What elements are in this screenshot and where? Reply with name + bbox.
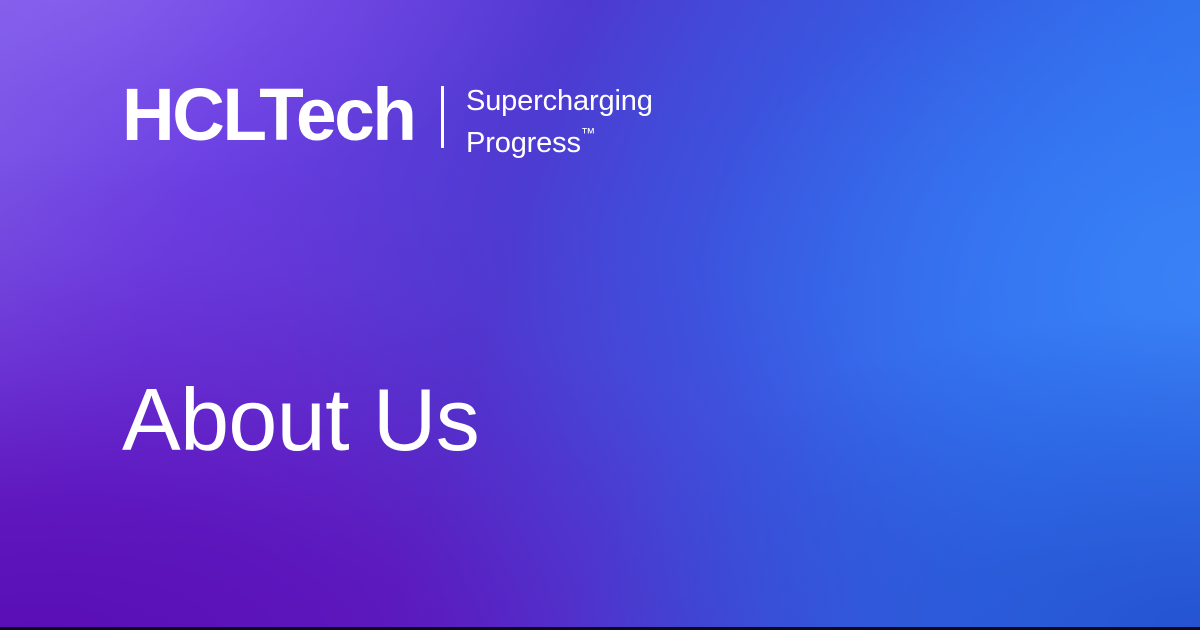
page-title: About Us [122,371,479,469]
brand-tagline-line-2: Progress™ [466,118,653,160]
share-card-canvas: HCLTech Supercharging Progress™ About Us [0,0,1200,630]
brand-tagline-line-1: Supercharging [466,85,653,118]
brand-wordmark: HCLTech [122,84,415,146]
trademark-icon: ™ [581,126,596,142]
logo-divider-icon [441,86,444,148]
hcltech-logo[interactable]: HCLTech Supercharging Progress™ [122,84,653,156]
brand-tagline: Supercharging Progress™ [466,84,653,160]
brand-tagline-line-2-text: Progress [466,127,581,159]
